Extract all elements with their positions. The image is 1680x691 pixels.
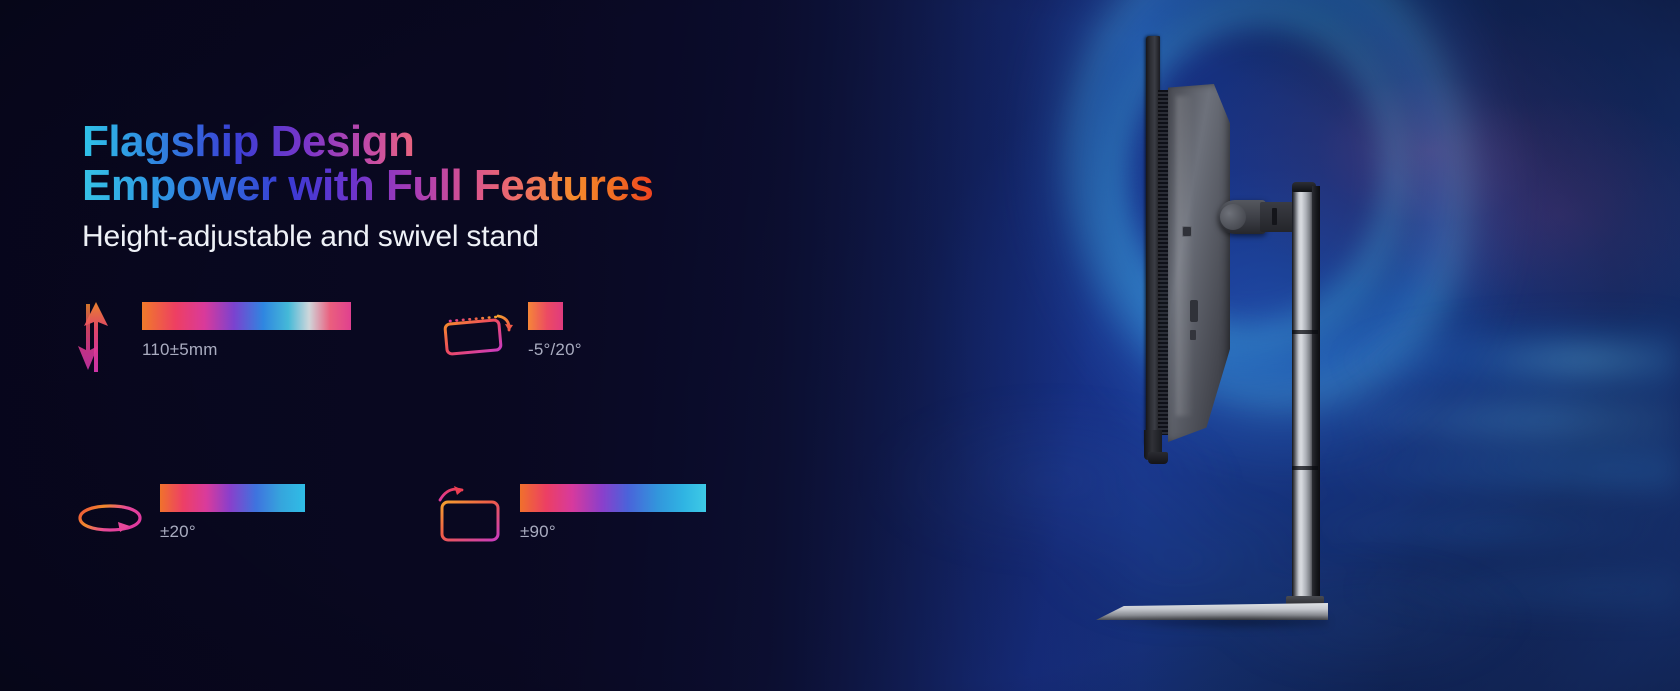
product-feature-banner: Flagship Design Empower with Full Featur… bbox=[0, 0, 1680, 691]
stand-column-highlight bbox=[1299, 192, 1301, 610]
stand-column-edge bbox=[1312, 186, 1320, 616]
tilt-screen-icon bbox=[432, 306, 514, 362]
pivot-rotate-icon bbox=[434, 484, 506, 546]
display-panel-foot bbox=[1148, 452, 1168, 464]
display-panel-vents bbox=[1158, 90, 1169, 435]
headline-block: Flagship Design Empower with Full Featur… bbox=[82, 120, 842, 254]
headline-line-2: Empower with Full Features bbox=[82, 164, 653, 208]
feature-tilt: Tilt -5°/20° bbox=[432, 300, 792, 374]
headline-line-1: Flagship Design bbox=[82, 120, 414, 164]
swivel-orbit-icon bbox=[74, 478, 146, 550]
feature-title: Tilt bbox=[528, 302, 563, 330]
base-plate-shadow bbox=[1100, 618, 1328, 630]
vertical-double-arrow-icon bbox=[70, 298, 122, 374]
feature-title: Height Adjustment bbox=[142, 302, 351, 330]
feature-value: 110±5mm bbox=[142, 340, 351, 360]
monitor-side-profile bbox=[1090, 0, 1430, 691]
feature-vertical-rotation: Vertical Rotation ±90° bbox=[434, 482, 794, 550]
stand-column-seam-upper bbox=[1292, 330, 1318, 334]
feature-value: ±90° bbox=[520, 522, 706, 542]
feature-title: Swivel Angle bbox=[160, 484, 305, 512]
feature-text-height-adjustment: Height Adjustment 110±5mm bbox=[142, 300, 351, 360]
feature-text-tilt: Tilt -5°/20° bbox=[528, 300, 582, 360]
brand-logo-emboss bbox=[1182, 226, 1192, 237]
rear-housing-highlight bbox=[1176, 96, 1192, 416]
stand-arm bbox=[1260, 202, 1296, 232]
feature-text-vertical-rotation: Vertical Rotation ±90° bbox=[520, 482, 706, 542]
feature-value: -5°/20° bbox=[528, 340, 582, 360]
headline: Flagship Design Empower with Full Featur… bbox=[82, 120, 842, 208]
feature-title: Vertical Rotation bbox=[520, 484, 706, 512]
feature-value: ±20° bbox=[160, 522, 305, 542]
feature-row-2: Swivel Angle ±20° bbox=[70, 482, 830, 550]
feature-text-swivel-angle: Swivel Angle ±20° bbox=[160, 482, 305, 542]
feature-row-1: Height Adjustment 110±5mm bbox=[70, 300, 830, 374]
subheadline: Height-adjustable and swivel stand bbox=[82, 220, 842, 254]
io-port bbox=[1190, 300, 1198, 322]
feature-height-adjustment: Height Adjustment 110±5mm bbox=[70, 300, 420, 374]
stand-arm-slot bbox=[1272, 208, 1277, 225]
feature-swivel-angle: Swivel Angle ±20° bbox=[74, 482, 424, 550]
io-port-secondary bbox=[1190, 330, 1196, 340]
vesa-hinge-pivot bbox=[1220, 204, 1246, 230]
feature-grid: Height Adjustment 110±5mm bbox=[70, 300, 830, 550]
stand-column-seam-lower bbox=[1292, 466, 1318, 470]
